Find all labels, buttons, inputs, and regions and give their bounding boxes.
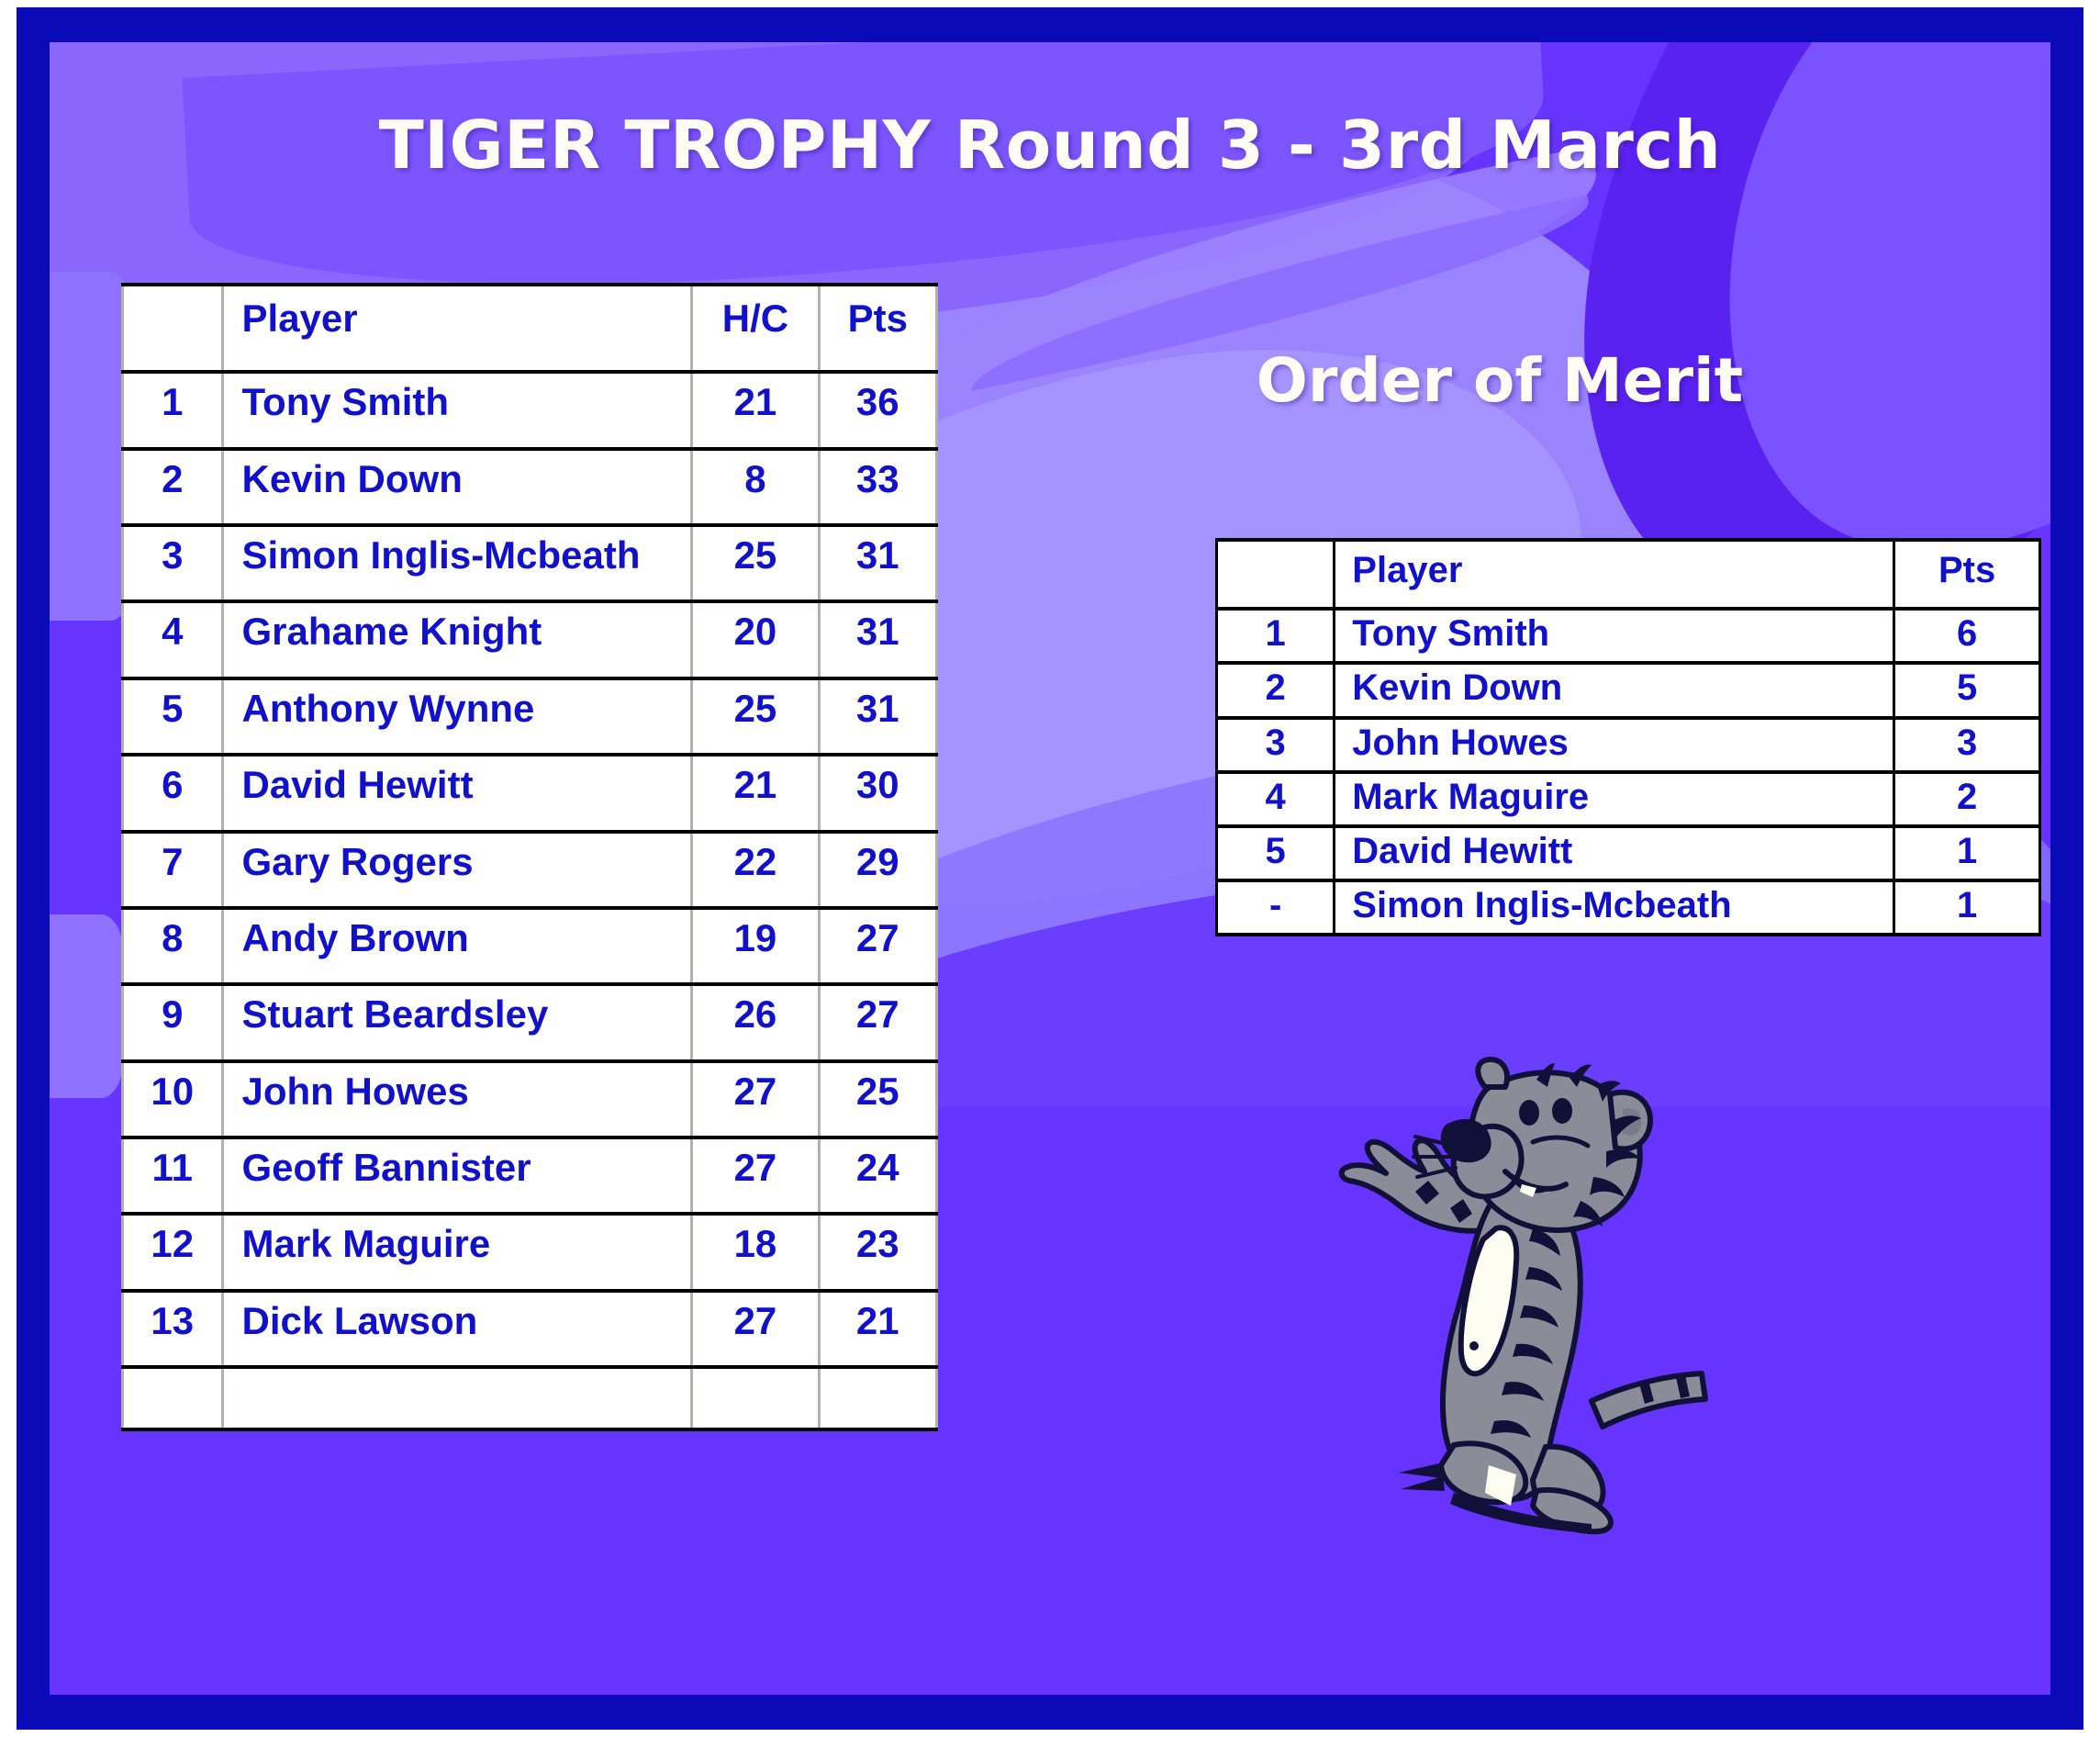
table-row: 2 Kevin Down 5 <box>1217 663 2040 717</box>
table-row: 3 Simon Inglis-Mcbeath 25 31 <box>123 525 937 601</box>
results-cell-pts: 23 <box>819 1214 936 1290</box>
results-cell-rank: 7 <box>123 832 223 908</box>
results-cell-rank: 13 <box>123 1291 223 1367</box>
results-header-player: Player <box>222 285 692 372</box>
table-row: - Simon Inglis-Mcbeath 1 <box>1217 880 2040 935</box>
results-cell-hc: 19 <box>692 908 819 984</box>
slide-canvas: TIGER TROPHY Round 3 - 3rd March Player … <box>50 42 2050 1695</box>
results-cell-hc: 25 <box>692 678 819 755</box>
results-cell-hc: 25 <box>692 525 819 601</box>
merit-cell-pts: 2 <box>1894 772 2040 826</box>
background-left-band <box>50 42 132 1695</box>
merit-cell-player: Mark Maguire <box>1335 772 1894 826</box>
results-header-pts: Pts <box>819 285 936 372</box>
results-cell-hc: 8 <box>692 449 819 525</box>
table-row: 1 Tony Smith 21 36 <box>123 372 937 448</box>
results-cell-rank: 1 <box>123 372 223 448</box>
results-cell-pts: 36 <box>819 372 936 448</box>
results-cell-hc: 22 <box>692 832 819 908</box>
merit-header-player: Player <box>1335 540 1894 609</box>
merit-cell-pts: 1 <box>1894 880 2040 935</box>
merit-cell-pts: 6 <box>1894 609 2040 663</box>
merit-cell-player: Tony Smith <box>1335 609 1894 663</box>
results-cell-rank: 6 <box>123 755 223 831</box>
results-cell-rank: 2 <box>123 449 223 525</box>
results-cell-pts: 25 <box>819 1061 936 1137</box>
table-row: 13 Dick Lawson 27 21 <box>123 1291 937 1367</box>
table-row: 12 Mark Maguire 18 23 <box>123 1214 937 1290</box>
results-cell-player: Mark Maguire <box>222 1214 692 1290</box>
results-cell-rank <box>123 1367 223 1429</box>
results-cell-pts: 30 <box>819 755 936 831</box>
merit-header-pts: Pts <box>1894 540 2040 609</box>
merit-cell-player: Kevin Down <box>1335 663 1894 717</box>
merit-cell-rank: 3 <box>1217 718 1335 772</box>
results-cell-hc <box>692 1367 819 1429</box>
results-cell-rank: 11 <box>123 1137 223 1214</box>
results-cell-player: Anthony Wynne <box>222 678 692 755</box>
results-cell-hc: 27 <box>692 1061 819 1137</box>
results-cell-pts: 31 <box>819 678 936 755</box>
results-cell-player: Kevin Down <box>222 449 692 525</box>
results-cell-pts <box>819 1367 936 1429</box>
results-cell-hc: 20 <box>692 601 819 678</box>
results-cell-rank: 3 <box>123 525 223 601</box>
background-left-highlight-lower <box>50 914 123 1098</box>
results-cell-pts: 33 <box>819 449 936 525</box>
merit-cell-pts: 1 <box>1894 826 2040 880</box>
table-row: 2 Kevin Down 8 33 <box>123 449 937 525</box>
results-cell-pts: 27 <box>819 984 936 1060</box>
order-of-merit-table: Player Pts 1 Tony Smith 6 2 Kevin Down 5… <box>1215 538 2041 936</box>
merit-header-rank <box>1217 540 1335 609</box>
results-cell-hc: 26 <box>692 984 819 1060</box>
tiger-mascot-icon <box>1316 1034 1720 1548</box>
table-row: 4 Mark Maguire 2 <box>1217 772 2040 826</box>
results-table-header-row: Player H/C Pts <box>123 285 937 372</box>
results-table: Player H/C Pts 1 Tony Smith 21 36 2 Kevi… <box>121 283 938 1431</box>
results-header-hc: H/C <box>692 285 819 372</box>
merit-cell-player: John Howes <box>1335 718 1894 772</box>
results-cell-player: Stuart Beardsley <box>222 984 692 1060</box>
results-cell-rank: 5 <box>123 678 223 755</box>
table-row: 5 Anthony Wynne 25 31 <box>123 678 937 755</box>
order-of-merit-title: Order of Merit <box>1041 345 1959 416</box>
results-cell-player: Gary Rogers <box>222 832 692 908</box>
merit-cell-pts: 3 <box>1894 718 2040 772</box>
results-cell-pts: 21 <box>819 1291 936 1367</box>
table-row: 4 Grahame Knight 20 31 <box>123 601 937 678</box>
results-cell-rank: 4 <box>123 601 223 678</box>
table-row: 5 David Hewitt 1 <box>1217 826 2040 880</box>
results-cell-pts: 24 <box>819 1137 936 1214</box>
slide-title: TIGER TROPHY Round 3 - 3rd March <box>50 106 2050 184</box>
table-row: 10 John Howes 27 25 <box>123 1061 937 1137</box>
merit-cell-pts: 5 <box>1894 663 2040 717</box>
merit-cell-rank: - <box>1217 880 1335 935</box>
results-header-rank <box>123 285 223 372</box>
table-row: 9 Stuart Beardsley 26 27 <box>123 984 937 1060</box>
table-row: 11 Geoff Bannister 27 24 <box>123 1137 937 1214</box>
merit-cell-rank: 1 <box>1217 609 1335 663</box>
results-cell-pts: 27 <box>819 908 936 984</box>
results-cell-player: Dick Lawson <box>222 1291 692 1367</box>
results-cell-player <box>222 1367 692 1429</box>
merit-cell-rank: 4 <box>1217 772 1335 826</box>
results-cell-hc: 18 <box>692 1214 819 1290</box>
table-row-empty <box>123 1367 937 1429</box>
results-cell-rank: 8 <box>123 908 223 984</box>
table-row: 8 Andy Brown 19 27 <box>123 908 937 984</box>
results-cell-player: John Howes <box>222 1061 692 1137</box>
results-cell-rank: 12 <box>123 1214 223 1290</box>
merit-cell-player: David Hewitt <box>1335 826 1894 880</box>
results-cell-hc: 21 <box>692 755 819 831</box>
merit-cell-player: Simon Inglis-Mcbeath <box>1335 880 1894 935</box>
results-cell-player: Geoff Bannister <box>222 1137 692 1214</box>
table-row: 6 David Hewitt 21 30 <box>123 755 937 831</box>
results-cell-pts: 31 <box>819 525 936 601</box>
results-cell-player: Simon Inglis-Mcbeath <box>222 525 692 601</box>
results-cell-hc: 27 <box>692 1137 819 1214</box>
results-cell-pts: 29 <box>819 832 936 908</box>
merit-table-header-row: Player Pts <box>1217 540 2040 609</box>
results-cell-rank: 10 <box>123 1061 223 1137</box>
results-cell-player: Andy Brown <box>222 908 692 984</box>
merit-cell-rank: 5 <box>1217 826 1335 880</box>
table-row: 7 Gary Rogers 22 29 <box>123 832 937 908</box>
results-cell-pts: 31 <box>819 601 936 678</box>
results-cell-player: Grahame Knight <box>222 601 692 678</box>
results-cell-rank: 9 <box>123 984 223 1060</box>
merit-cell-rank: 2 <box>1217 663 1335 717</box>
table-row: 3 John Howes 3 <box>1217 718 2040 772</box>
results-cell-player: David Hewitt <box>222 755 692 831</box>
results-cell-hc: 21 <box>692 372 819 448</box>
results-cell-player: Tony Smith <box>222 372 692 448</box>
results-cell-hc: 27 <box>692 1291 819 1367</box>
slide: TIGER TROPHY Round 3 - 3rd March Player … <box>0 0 2100 1737</box>
table-row: 1 Tony Smith 6 <box>1217 609 2040 663</box>
